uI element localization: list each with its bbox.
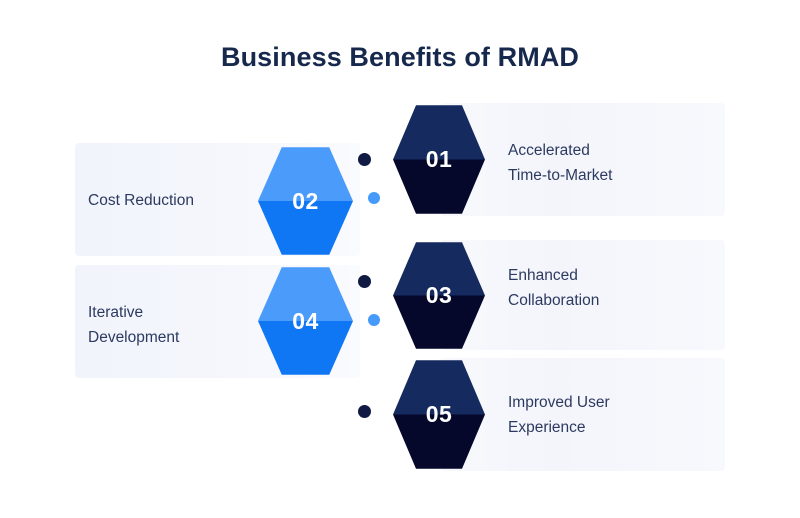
hexagon-01[interactable]: 01 [393, 103, 485, 216]
page-title: Business Benefits of RMAD [0, 42, 800, 73]
item-label-05: Improved User Experience [508, 390, 698, 440]
hexagon-05[interactable]: 05 [393, 358, 485, 471]
hexagon-number-02: 02 [292, 188, 319, 215]
hexagon-number-05: 05 [426, 401, 453, 428]
hexagon-03[interactable]: 03 [393, 240, 485, 351]
hexagon-04[interactable]: 04 [258, 265, 353, 377]
hexagon-number-03: 03 [426, 282, 453, 309]
hexagon-02[interactable]: 02 [258, 145, 353, 257]
item-label-02: Cost Reduction [88, 188, 263, 213]
connector-dot-dark-1 [358, 153, 371, 166]
item-label-01: Accelerated Time-to-Market [508, 138, 698, 188]
item-label-04: Iterative Development [88, 300, 263, 350]
infographic-canvas: Business Benefits of RMAD 01 Accelerated… [0, 0, 800, 518]
connector-dot-dark-2 [358, 275, 371, 288]
hexagon-number-04: 04 [292, 308, 319, 335]
connector-dot-dark-3 [358, 405, 371, 418]
connector-dot-blue-1 [368, 192, 380, 204]
item-label-03: Enhanced Collaboration [508, 263, 698, 313]
hexagon-number-01: 01 [426, 146, 453, 173]
connector-dot-blue-2 [368, 314, 380, 326]
